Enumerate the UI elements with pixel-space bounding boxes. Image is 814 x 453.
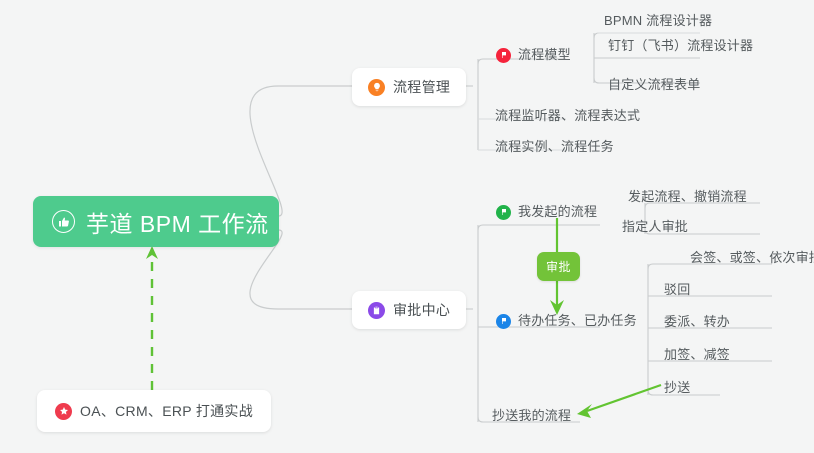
node-label: 流程模型 [518,46,571,64]
node-dingtalk-designer[interactable]: 钉钉（飞书）流程设计器 [600,37,761,59]
node-my-started-processes[interactable]: 我发起的流程 [490,203,605,225]
flag-icon [496,205,511,220]
flag-icon [496,314,511,329]
footnote-label: OA、CRM、ERP 打通实战 [80,401,253,421]
node-label: 待办任务、已办任务 [518,312,637,330]
node-countersign[interactable]: 会签、或签、依次审批 [682,249,814,271]
node-process-model[interactable]: 流程模型 [490,46,579,68]
footnote-arrow [146,246,158,390]
root-node[interactable]: 芋道 BPM 工作流 [33,196,279,247]
node-process-instance[interactable]: 流程实例、流程任务 [487,138,622,160]
branch-approval-center[interactable]: 审批中心 [352,291,466,329]
flag-icon [496,48,511,63]
node-todo-done-tasks[interactable]: 待办任务、已办任务 [490,312,645,334]
footnote-node[interactable]: OA、CRM、ERP 打通实战 [37,390,271,432]
clipboard-icon [368,302,385,319]
node-cc-to-me[interactable]: 抄送我的流程 [484,407,579,429]
node-bpmn-designer[interactable]: BPMN 流程设计器 [596,12,720,34]
node-designated-approver[interactable]: 指定人审批 [614,218,696,240]
root-label: 芋道 BPM 工作流 [86,205,269,239]
branch-label: 流程管理 [393,77,450,97]
lightbulb-icon [368,79,385,96]
node-carbon-copy[interactable]: 抄送 [656,379,698,401]
node-add-remove-sign[interactable]: 加签、减签 [656,346,738,368]
branch-label: 审批中心 [393,300,450,320]
cc-flow-arrow [577,385,661,418]
node-custom-form[interactable]: 自定义流程表单 [600,76,708,98]
approval-callout: 审批 [537,252,580,281]
mindmap-canvas: 芋道 BPM 工作流 流程管理 流程模型 BPMN 流程设计器 钉钉（飞书）流程… [0,0,814,453]
star-icon [55,403,72,420]
branch-process-management[interactable]: 流程管理 [352,68,466,106]
node-label: 我发起的流程 [518,203,597,221]
node-start-cancel-process[interactable]: 发起流程、撤销流程 [620,188,755,210]
node-delegate-transfer[interactable]: 委派、转办 [656,313,738,335]
node-process-listener[interactable]: 流程监听器、流程表达式 [487,107,648,129]
node-reject[interactable]: 驳回 [656,281,698,303]
thumbs-up-icon [52,210,75,233]
